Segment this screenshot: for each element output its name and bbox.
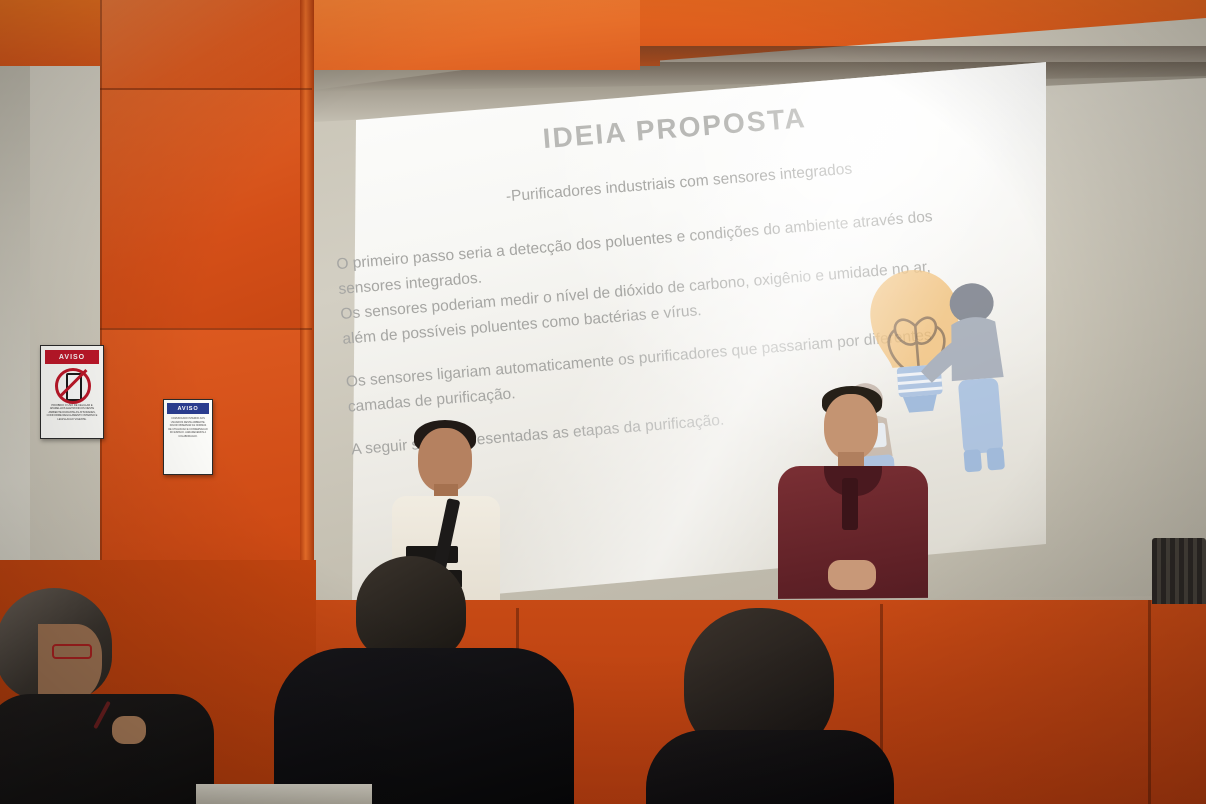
sign-header: AVISO <box>45 350 99 364</box>
hand <box>112 716 146 744</box>
blue-notice-sign: AVISO COMUNICADO INTERNO AOS USUARIOS DE… <box>163 399 213 475</box>
panel-seam <box>100 88 312 90</box>
wall-panel-2 <box>100 90 312 330</box>
head <box>418 428 472 492</box>
slide-subtitle: -Purificadores industriais com sensores … <box>389 151 969 215</box>
sign-header: AVISO <box>167 403 209 414</box>
sign-fine-print: COMUNICADO INTERNO AOS USUARIOS DESTE AM… <box>168 417 208 439</box>
wainscot-seam <box>1148 600 1151 804</box>
red-glasses-icon <box>52 644 92 659</box>
clasped-hands <box>828 560 876 590</box>
no-mobile-phone-icon <box>55 368 89 402</box>
audience-member-center <box>288 556 588 804</box>
dark-jacket <box>0 694 214 804</box>
table-edge <box>196 784 372 804</box>
slide-title: IDEIA PROPOSTA <box>464 96 885 162</box>
head <box>824 394 878 460</box>
audience-member-right <box>640 608 920 804</box>
face <box>38 624 102 702</box>
wall-panel-1 <box>100 0 312 92</box>
stacked-equipment <box>1152 538 1206 604</box>
panel-seam <box>100 328 312 330</box>
dark-clothing <box>646 730 894 804</box>
hoodie-placket <box>842 478 858 530</box>
panel-seam-vertical <box>100 0 102 640</box>
sign-fine-print: PROIBIDO O USO DE CELULAR E APARELHOS EL… <box>46 404 98 421</box>
hair <box>356 556 466 660</box>
left-wall-strip <box>0 0 30 640</box>
audience-member-left <box>0 588 240 804</box>
no-phone-warning-sign: AVISO PROIBIDO O USO DE CELULAR E APAREL… <box>40 345 104 439</box>
dark-suit <box>274 648 574 804</box>
presentation-scene: IDEIA PROPOSTA -Purificadores industriai… <box>0 0 1206 804</box>
